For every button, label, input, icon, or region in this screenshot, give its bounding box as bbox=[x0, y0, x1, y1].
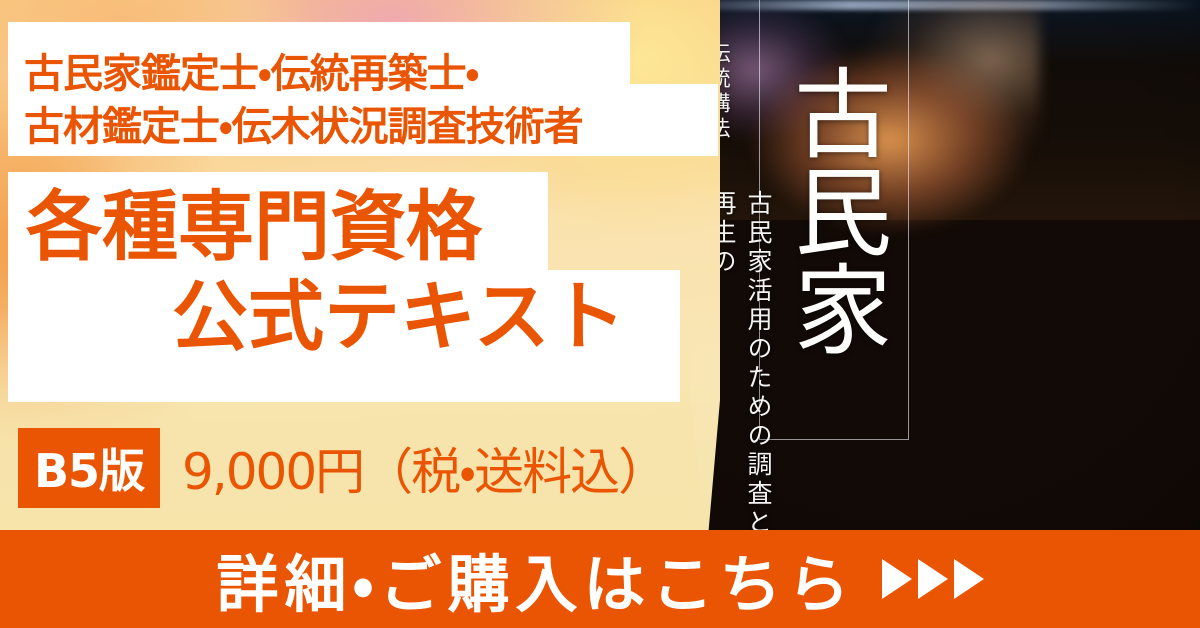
top-headline-card: 古民家鑑定士・伝統再築士・ 古材鑑定士・伝木状況調査技術者 bbox=[8, 22, 718, 156]
top-headline-text: 古民家鑑定士・伝統再築士・ 古材鑑定士・伝木状況調査技術者 bbox=[24, 48, 583, 154]
triangle-right-icon bbox=[918, 559, 948, 599]
cta-bar[interactable]: 詳細・ご購入はこちら bbox=[0, 530, 1200, 628]
book-cover-image: 古民家 伝統構法 古民家活用のための調査と再生の bbox=[660, 0, 1200, 560]
cta-arrow-group bbox=[882, 559, 984, 599]
triangle-right-icon bbox=[882, 559, 912, 599]
cta-label[interactable]: 詳細・ご購入はこちら bbox=[216, 534, 855, 624]
book-size-badge: B5版 bbox=[18, 428, 160, 508]
cover-title-text: 古民家 bbox=[778, 10, 890, 410]
main-headline-line-1: 各種専門資格 bbox=[26, 186, 482, 268]
price-row: B5版 9,000円（税・送料込） bbox=[18, 428, 666, 508]
triangle-right-icon bbox=[954, 559, 984, 599]
promo-banner: 古民家 伝統構法 古民家活用のための調査と再生の 古民家鑑定士・伝統再築士・ 古… bbox=[0, 0, 1200, 628]
price-amount-text: 9,000円（税・送料込） bbox=[182, 432, 666, 504]
main-headline-line-2: 公式テキスト bbox=[172, 276, 626, 358]
